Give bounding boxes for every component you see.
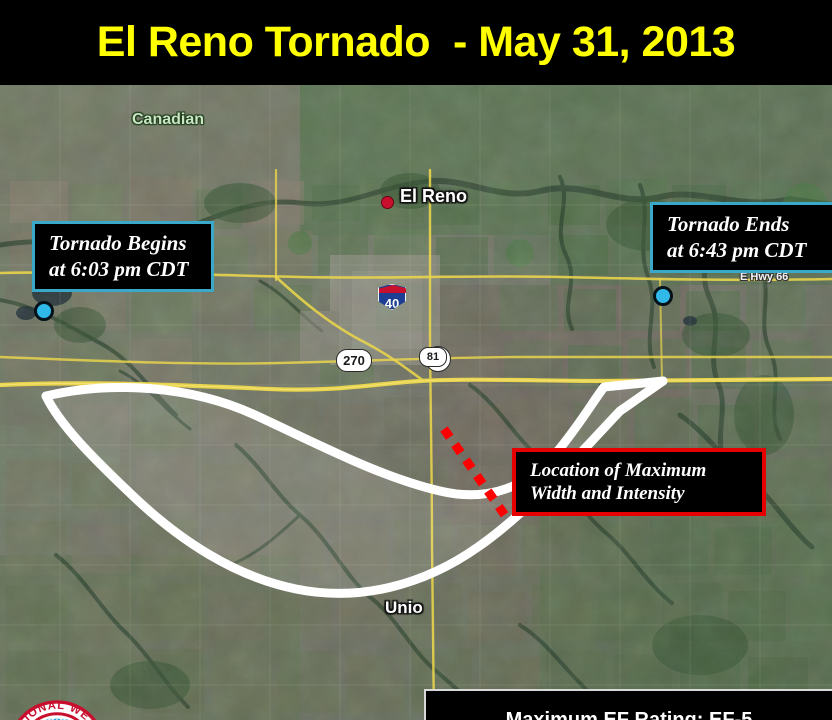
callout-tornado-begins: Tornado Begins at 6:03 pm CDT [32,221,214,292]
nws-logo: NATIONAL WEATHER SERVICE [8,700,106,720]
title-bar: El Reno Tornado - May 31, 2013 [0,0,832,85]
callout-max-width-intensity: Location of Maximum Width and Intensity [512,448,766,516]
el-reno-city-dot [381,196,394,209]
us-81-shield-label: 81 [427,351,439,363]
callout-max-line1: Location of Maximum [530,459,748,482]
tornado-start-marker[interactable] [34,301,54,321]
satellite-basemap [0,85,832,720]
callout-tornado-ends: Tornado Ends at 6:43 pm CDT [650,202,832,273]
map-canvas[interactable]: Canadian El Reno Unio E Hwy 66 270 66 40… [0,85,832,720]
page-title: El Reno Tornado - May 31, 2013 [97,21,735,64]
tornado-path-map-graphic: El Reno Tornado - May 31, 2013 [0,0,832,720]
us-270-shield-label: 270 [343,353,365,368]
callout-begins-line2: at 6:03 pm CDT [49,257,197,283]
tornado-end-marker[interactable] [653,286,673,306]
callout-ends-line2: at 6:43 pm CDT [667,238,832,264]
callout-ends-line1: Tornado Ends [667,212,832,238]
tornado-stats-box: Maximum EF Rating: EF-5 Maximum Path Wid… [424,689,832,720]
stat-ef-rating: Maximum EF Rating: EF-5 [506,709,753,720]
callout-begins-line1: Tornado Begins [49,231,197,257]
us-270-shield: 270 [336,349,372,372]
callout-max-line2: Width and Intensity [530,482,748,505]
us-81-shield-visible: 81 [419,347,447,367]
